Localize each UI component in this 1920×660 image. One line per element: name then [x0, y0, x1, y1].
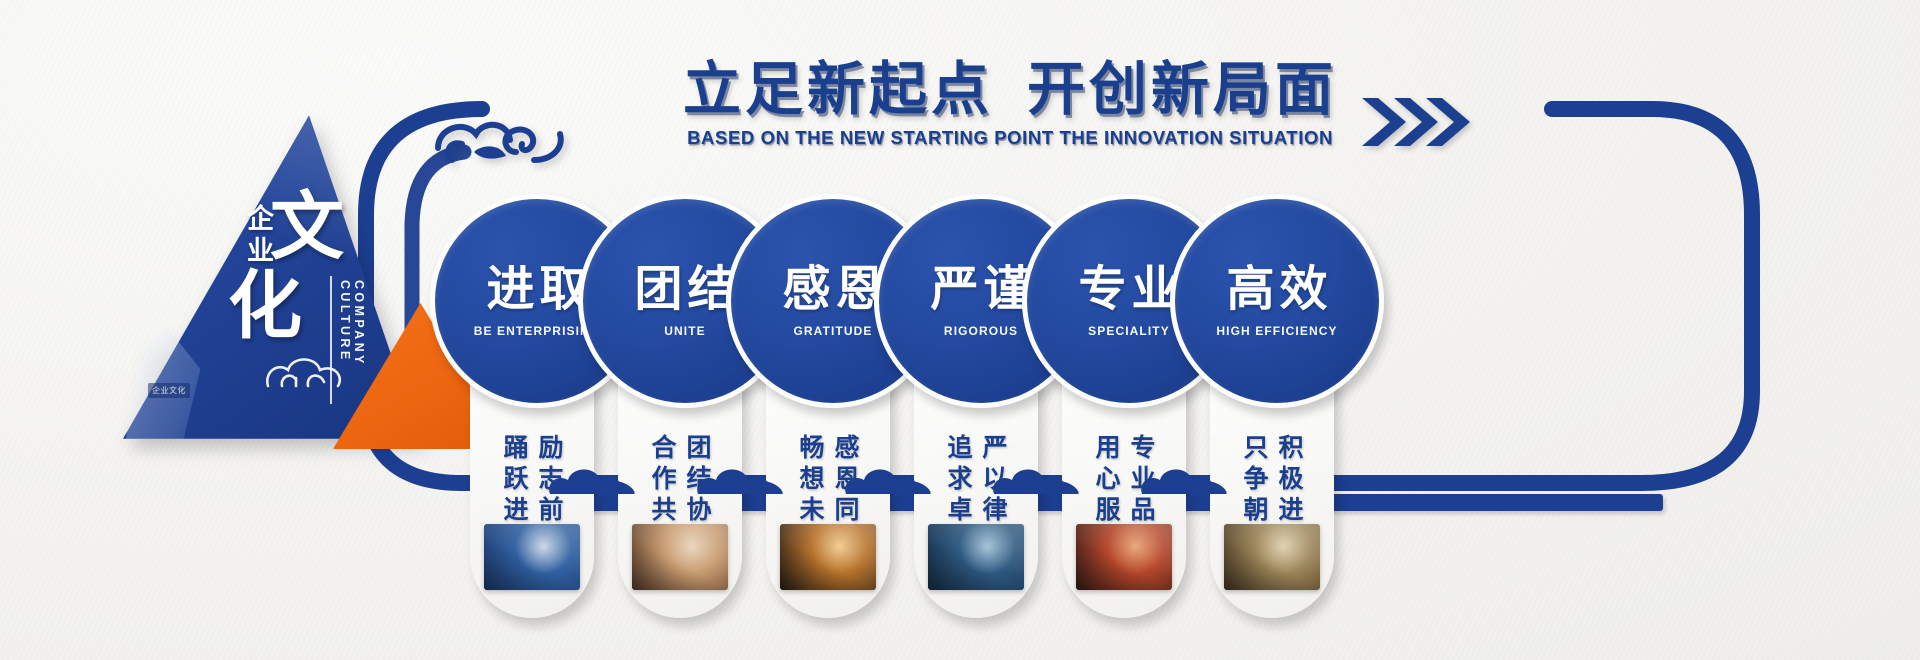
- photo-subject-silhouette: [484, 524, 580, 590]
- value-pill-high-efficiency[interactable]: 高效HIGH EFFICIENCY积极进取只争朝夕: [1210, 238, 1334, 618]
- value-pill-title-en: SPECIALITY: [1088, 324, 1170, 338]
- value-pill-title-en: HIGH EFFICIENCY: [1216, 324, 1337, 338]
- page-title: 立足新起点开创新局面: [660, 60, 1360, 118]
- header-title-block: 立足新起点开创新局面 BASED ON THE NEW STARTING POI…: [660, 60, 1360, 149]
- value-pill-rigorous[interactable]: 严谨RIGOROUS严以律己追求卓越: [914, 238, 1038, 618]
- value-pill-title-cn: 感恩: [782, 265, 888, 313]
- chinese-cloud-ornament-icon: [430, 108, 570, 170]
- double-chevron-right-icon: [1360, 96, 1470, 148]
- value-pill-title-cn: 严谨: [930, 265, 1036, 313]
- chinese-cloud-ornament-icon: [1138, 462, 1230, 496]
- logo-char-hua: 化: [228, 269, 344, 344]
- value-pill-unite[interactable]: 团结UNITE团结协作合作共赢: [618, 238, 742, 618]
- value-pill-title-en: UNITE: [664, 324, 706, 338]
- culture-wall-scene: 立足新起点开创新局面 BASED ON THE NEW STARTING POI…: [0, 0, 1920, 660]
- chinese-cloud-ornament-icon: [546, 462, 638, 496]
- photo-sunset-runner: [780, 524, 876, 590]
- photo-subject-silhouette: [928, 524, 1024, 590]
- photo-eagle-in-flight: [928, 524, 1024, 590]
- page-subtitle: BASED ON THE NEW STARTING POINT THE INNO…: [660, 127, 1360, 149]
- logo-cloud-ornament-icon: [262, 348, 346, 394]
- value-pill-title-en: RIGOROUS: [944, 324, 1018, 338]
- title-cn-right: 开创新局面: [1027, 55, 1337, 123]
- photo-handshake-teamwork: [632, 524, 728, 590]
- logo-corner-badge: 企业文化: [148, 383, 190, 398]
- chinese-cloud-ornament-icon: [990, 462, 1082, 496]
- photo-athlete-track: [1076, 524, 1172, 590]
- photo-subject-silhouette: [780, 524, 876, 590]
- value-pill-title-cn: 进取: [486, 265, 592, 313]
- title-cn-left: 立足新起点: [683, 55, 993, 123]
- photo-pen-on-blueprint: [484, 524, 580, 590]
- value-pill-title-en: GRATITUDE: [793, 324, 872, 338]
- value-pill-title-cn: 团结: [634, 265, 740, 313]
- photo-pocket-watch: [1224, 524, 1320, 590]
- value-pill-gratitude[interactable]: 感恩GRATITUDE感恩同行畅想未来: [766, 238, 890, 618]
- logo-char-wen: 文: [270, 184, 344, 270]
- value-pill-be-enterprising[interactable]: 进取BE ENTERPRISING励志前行踊跃进取: [470, 238, 594, 618]
- value-pill-title-cn: 专业: [1078, 265, 1184, 313]
- chinese-cloud-ornament-icon: [694, 462, 786, 496]
- value-pill-circle: 高效HIGH EFFICIENCY: [1170, 194, 1384, 408]
- value-pill-speciality[interactable]: 专业SPECIALITY专业品质用心服务: [1062, 238, 1186, 618]
- logo-big-text: 文 化: [270, 190, 344, 345]
- photo-subject-silhouette: [632, 524, 728, 590]
- chinese-cloud-ornament-icon: [842, 462, 934, 496]
- photo-subject-silhouette: [1224, 524, 1320, 590]
- value-pill-title-cn: 高效: [1226, 265, 1332, 313]
- photo-subject-silhouette: [1076, 524, 1172, 590]
